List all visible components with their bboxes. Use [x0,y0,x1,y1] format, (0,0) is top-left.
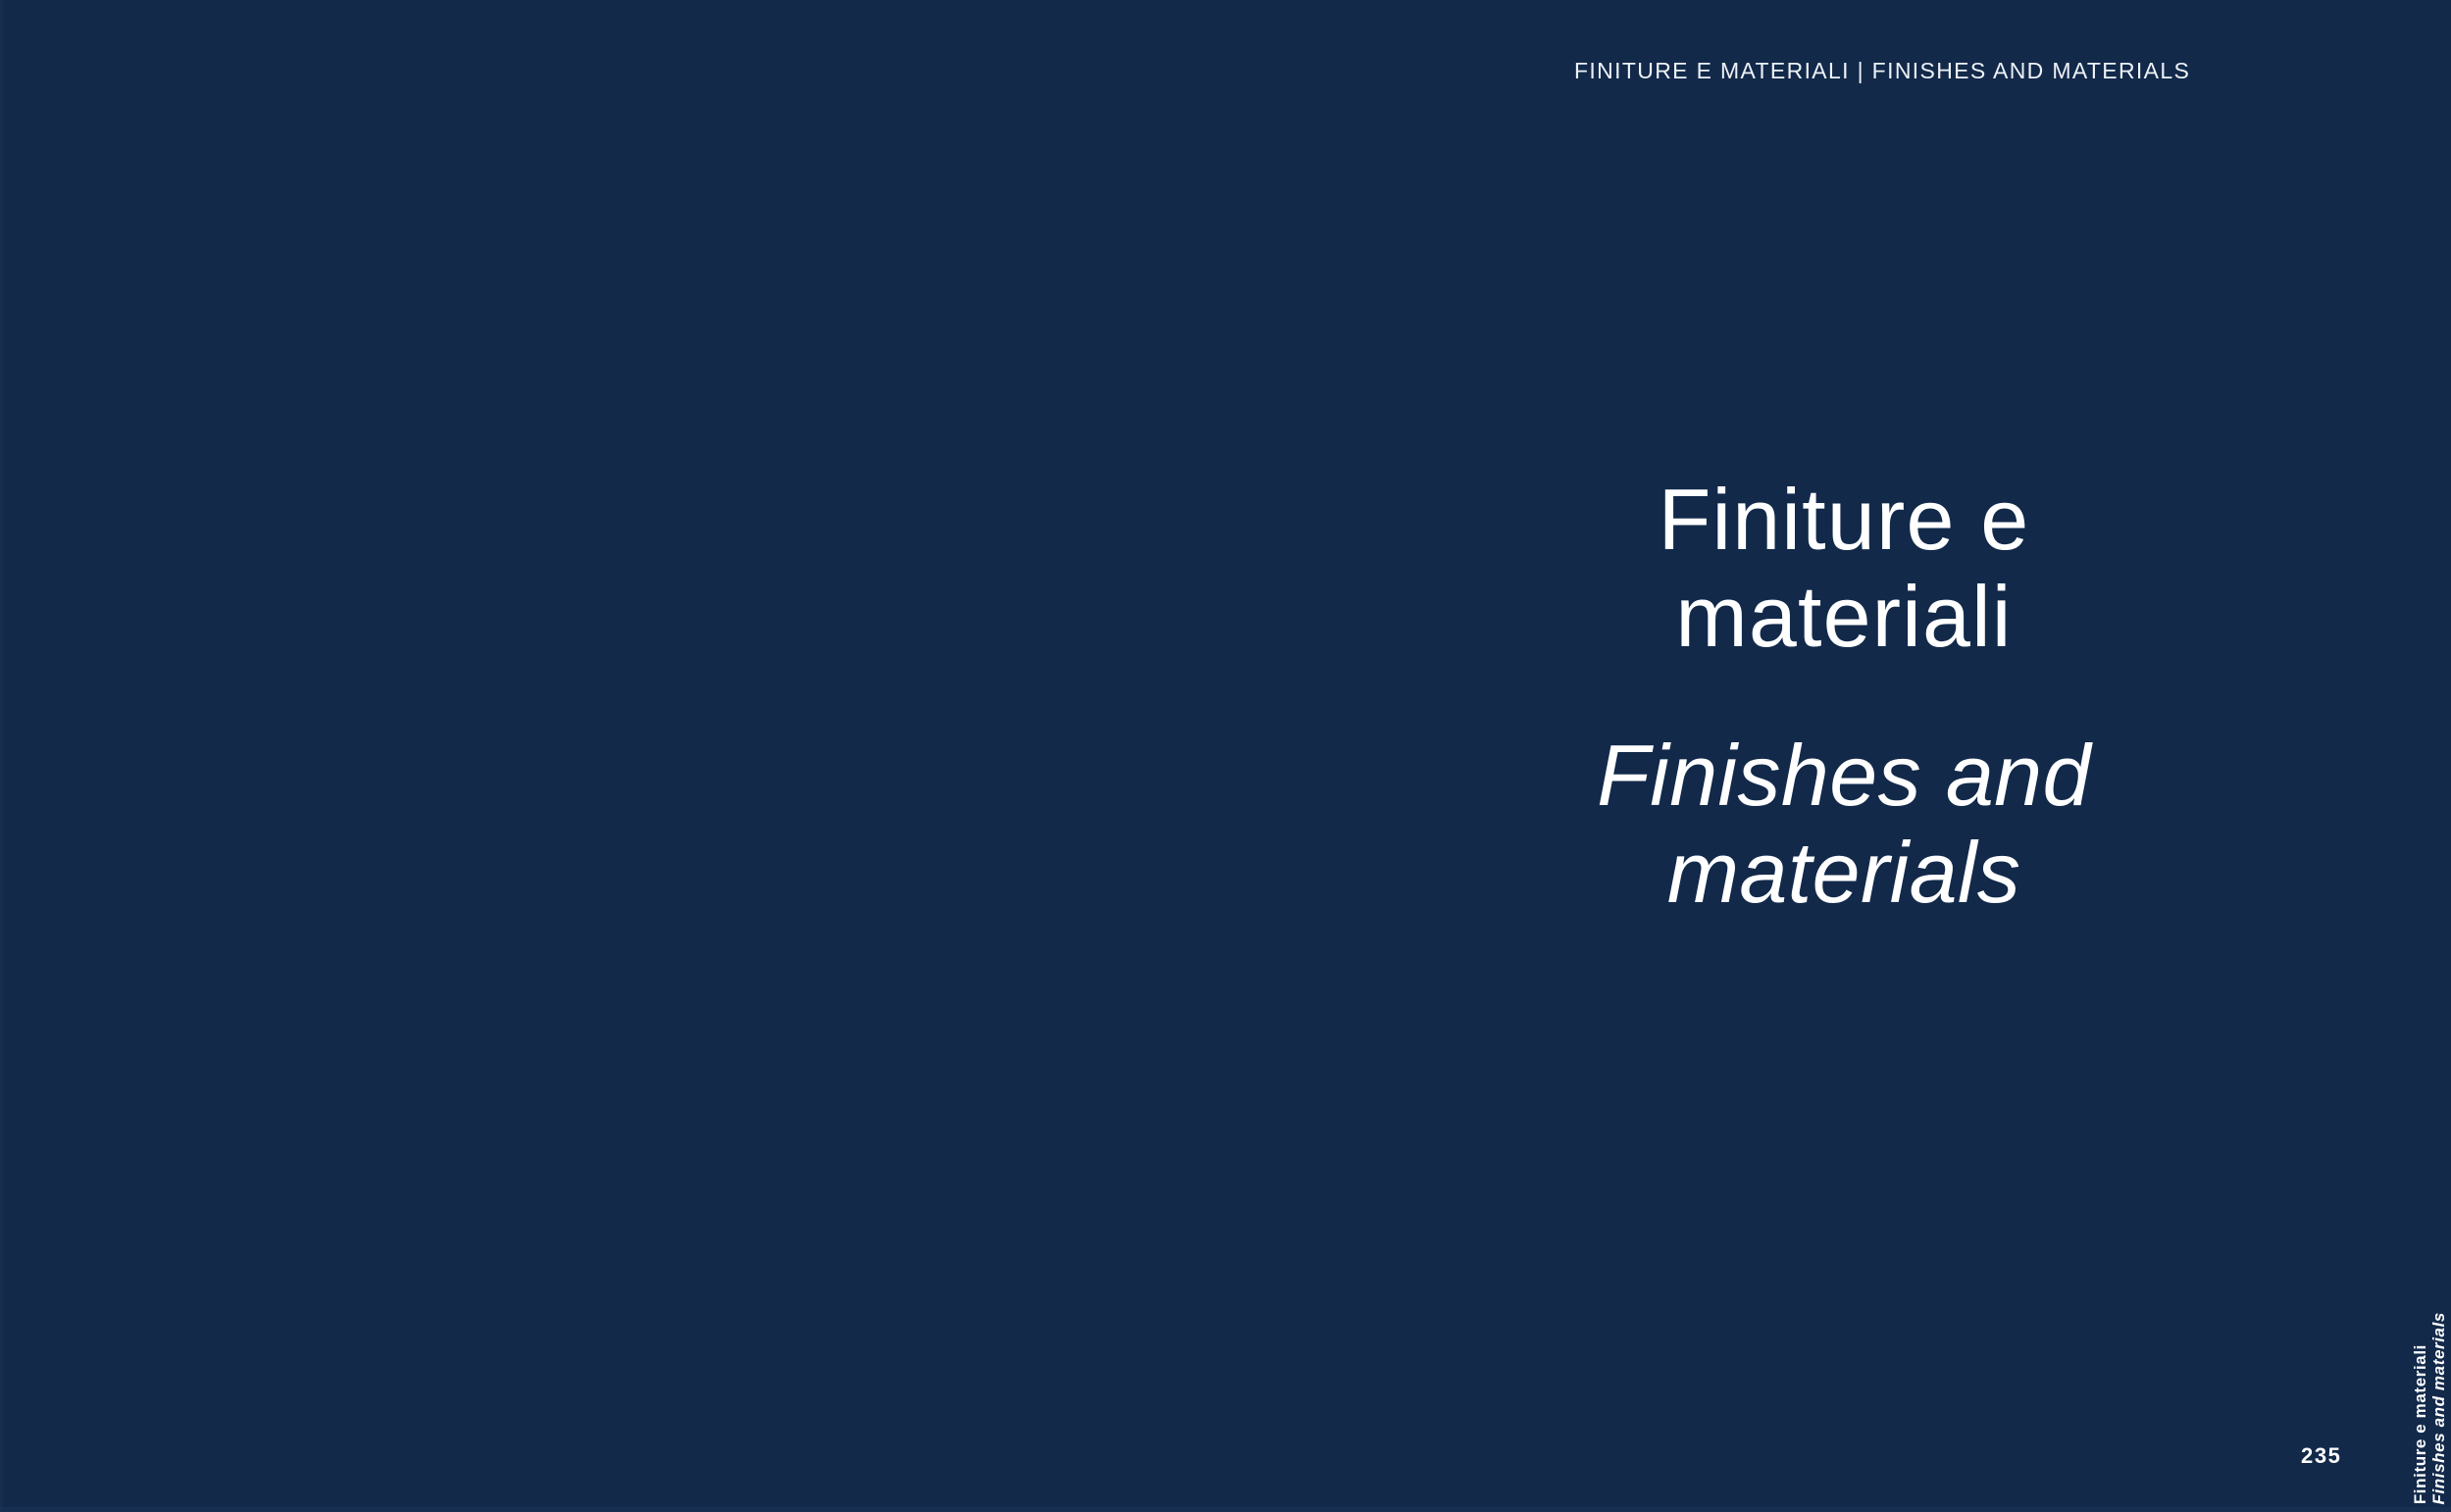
section-title-block: Finiture e materiali Finishes and materi… [1471,471,2217,922]
document-page: FINITURE E MATERIALI | FINISHES AND MATE… [0,0,2451,1512]
page-left-edge [0,0,3,1512]
section-title-italian: Finiture e materiali [1471,471,2217,666]
side-index-tab-label-english: Finishes and materials [2430,1312,2447,1505]
running-header: FINITURE E MATERIALI | FINISHES AND MATE… [1574,59,2123,83]
side-index-tab: Finiture e materiali Finishes and materi… [2412,1298,2447,1504]
page-number: 235 [2301,1443,2342,1469]
page-bottom-edge [0,1507,2451,1512]
section-title-english: Finishes and materials [1471,727,2217,922]
side-index-tab-label-italian: Finiture e materiali [2412,1344,2428,1504]
